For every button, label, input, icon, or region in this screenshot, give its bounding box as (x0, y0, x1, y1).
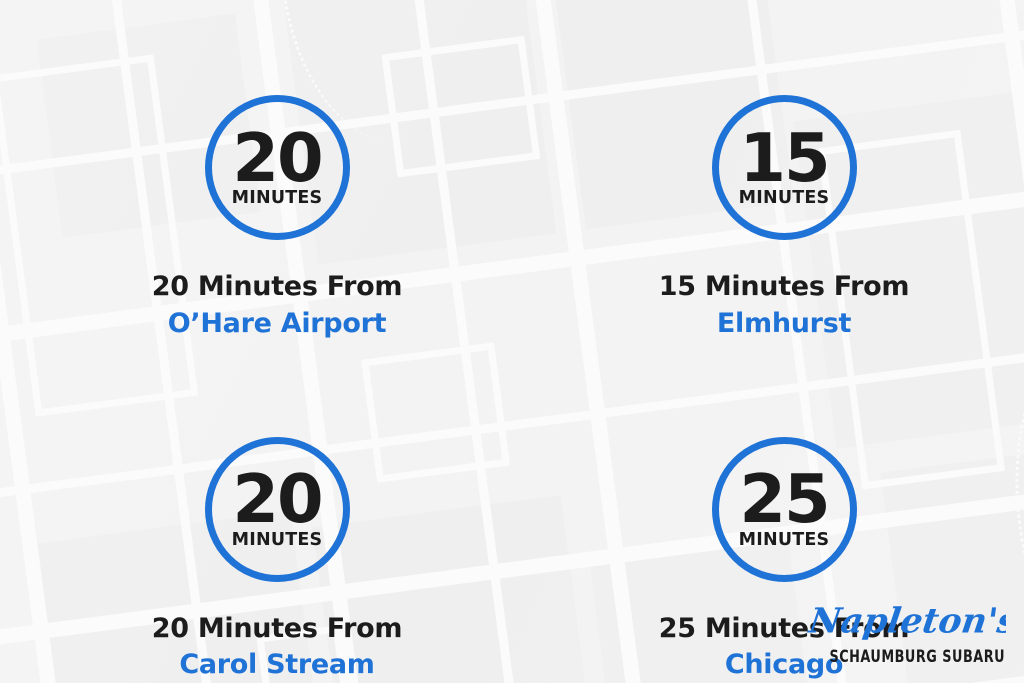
minutes-badge: 20 MINUTES (205, 437, 350, 582)
tile-caption-line2: Elmhurst (659, 308, 909, 340)
badge-caption: MINUTES (739, 188, 830, 208)
drive-times-graphic: 20 MINUTES 20 Minutes From O’Hare Airpor… (0, 0, 1024, 683)
minutes-badge: 25 MINUTES (712, 437, 857, 582)
stat-tile-elmhurst: 15 MINUTES 15 Minutes From Elmhurst (512, 0, 1024, 342)
tile-caption-line2: Carol Stream (152, 649, 402, 681)
tile-caption-line1: 15 Minutes From (659, 271, 909, 303)
tile-caption-line2: O’Hare Airport (152, 308, 402, 340)
stat-tiles-grid: 20 MINUTES 20 Minutes From O’Hare Airpor… (0, 0, 1024, 683)
stat-tile-carol-stream: 20 MINUTES 20 Minutes From Carol Stream (0, 342, 512, 683)
badge-caption: MINUTES (739, 530, 830, 550)
badge-number: 25 (739, 472, 828, 527)
tile-caption-line1: 20 Minutes From (152, 613, 402, 645)
logo-subtitle: SCHAUMBURG SUBARU (829, 647, 1005, 667)
badge-number: 20 (232, 131, 321, 186)
badge-caption: MINUTES (232, 188, 323, 208)
napletons-script-logo: Napleton's (806, 597, 1006, 645)
badge-number: 20 (232, 472, 321, 527)
tile-caption: 20 Minutes From Carol Stream (152, 613, 402, 682)
badge-number: 15 (739, 131, 828, 186)
tile-caption: 20 Minutes From O’Hare Airport (152, 271, 402, 340)
dealership-logo: Napleton's SCHAUMBURG SUBARU (806, 597, 1006, 669)
badge-caption: MINUTES (232, 530, 323, 550)
stat-tile-ohare-airport: 20 MINUTES 20 Minutes From O’Hare Airpor… (0, 0, 512, 342)
tile-caption: 15 Minutes From Elmhurst (659, 271, 909, 340)
minutes-badge: 15 MINUTES (712, 95, 857, 240)
napletons-script-text: Napleton's (806, 601, 1006, 642)
minutes-badge: 20 MINUTES (205, 95, 350, 240)
tile-caption-line1: 20 Minutes From (152, 271, 402, 303)
